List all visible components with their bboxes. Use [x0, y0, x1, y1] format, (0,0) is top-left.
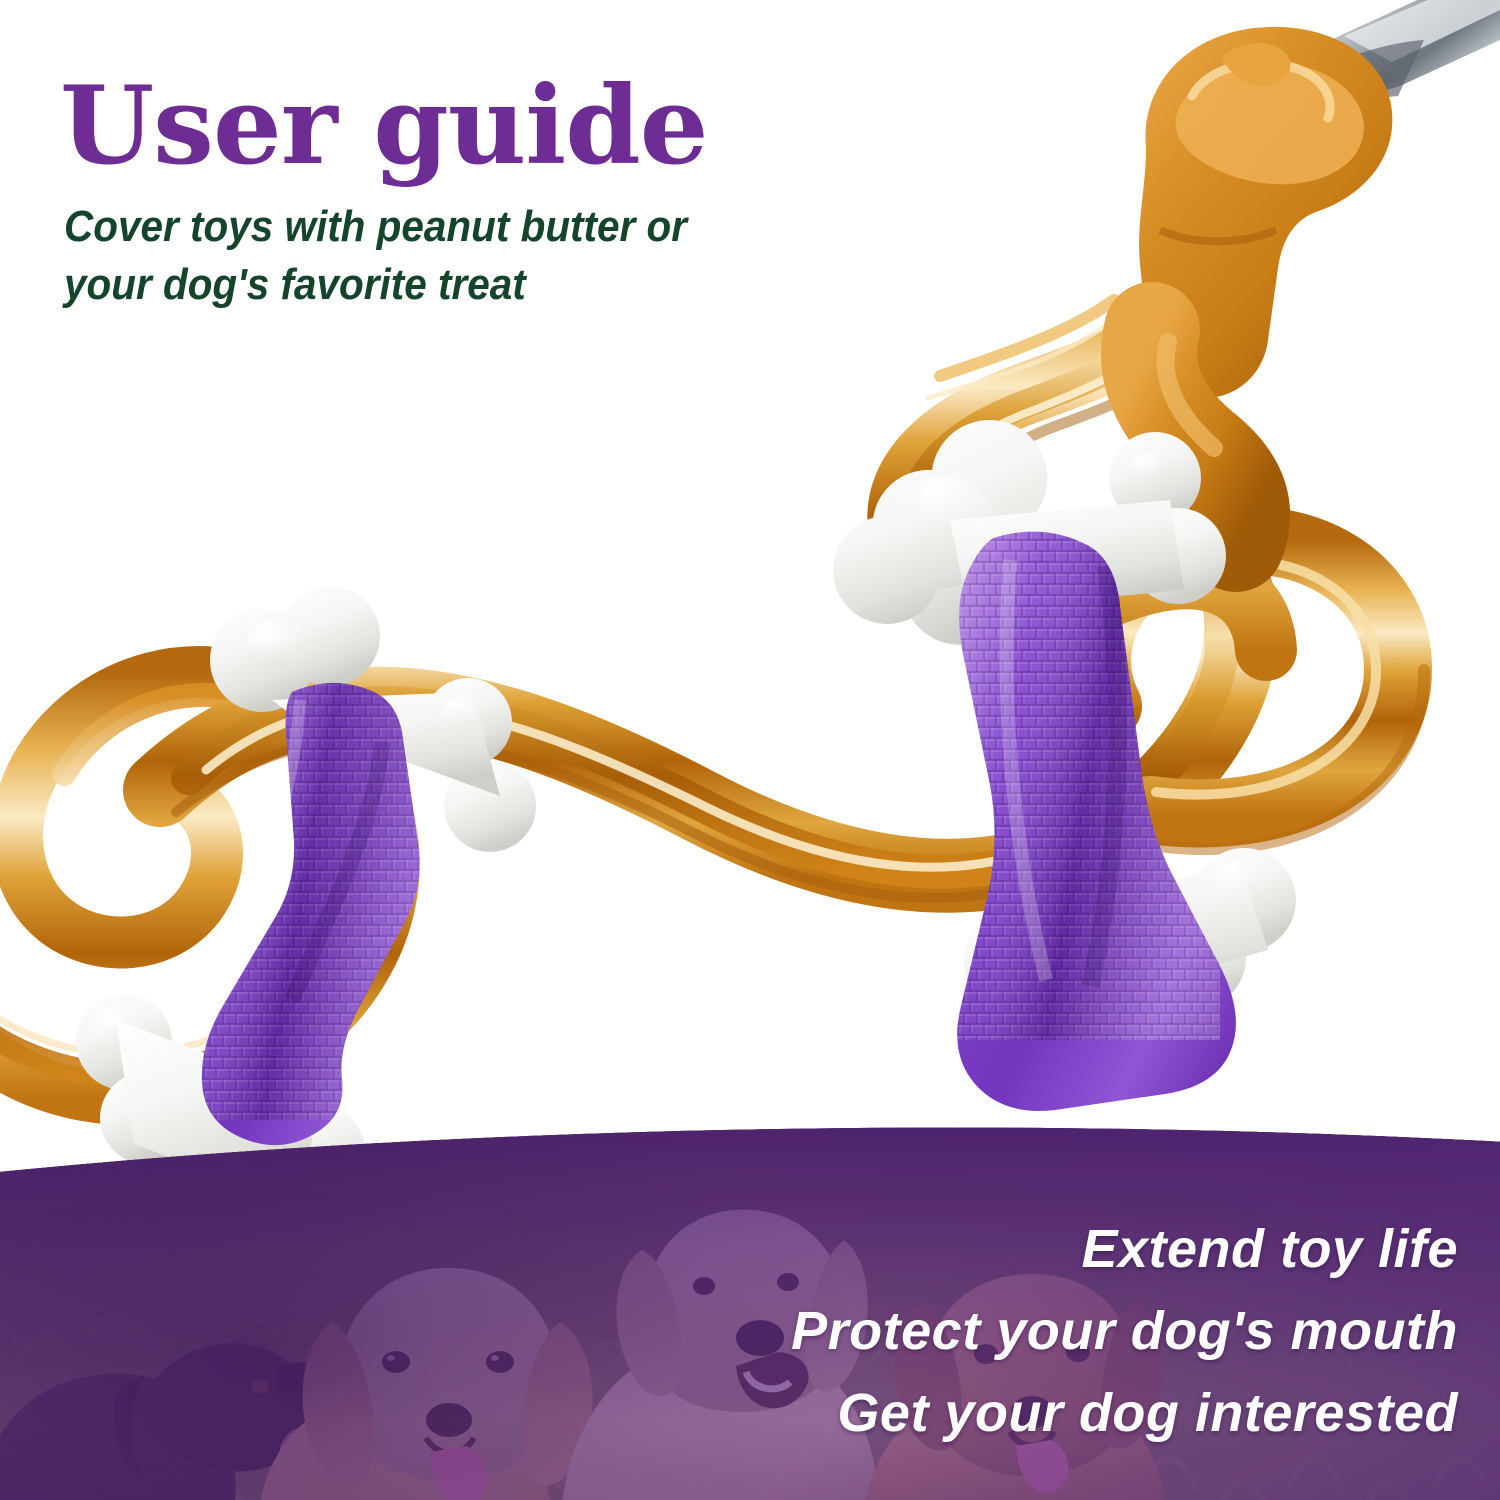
benefit-get-dog-interested: Get your dog interested — [758, 1386, 1458, 1440]
benefit-extend-toy-life: Extend toy life — [758, 1222, 1458, 1276]
heading-block: User guide Cover toys with peanut butter… — [60, 72, 960, 314]
benefits-list: Extend toy life Protect your dog's mouth… — [758, 1222, 1458, 1440]
page-subtitle: Cover toys with peanut butter or your do… — [64, 198, 888, 314]
page-title: User guide — [60, 72, 960, 180]
benefit-protect-mouth: Protect your dog's mouth — [758, 1304, 1458, 1358]
bone-end-bottom-right — [964, 848, 1296, 1054]
toy-body-left — [160, 660, 430, 1145]
user-guide-infographic: User guide Cover toys with peanut butter… — [0, 0, 1500, 1500]
spoon-with-peanut-butter-group — [1139, 0, 1500, 544]
toy-body-right — [940, 520, 1236, 1111]
bone-end-top-right — [833, 420, 1226, 645]
bone-end-top-left — [210, 586, 536, 852]
caramel-swirl-group — [0, 252, 1424, 1099]
dog-bone-toy-right-group — [833, 420, 1296, 1111]
